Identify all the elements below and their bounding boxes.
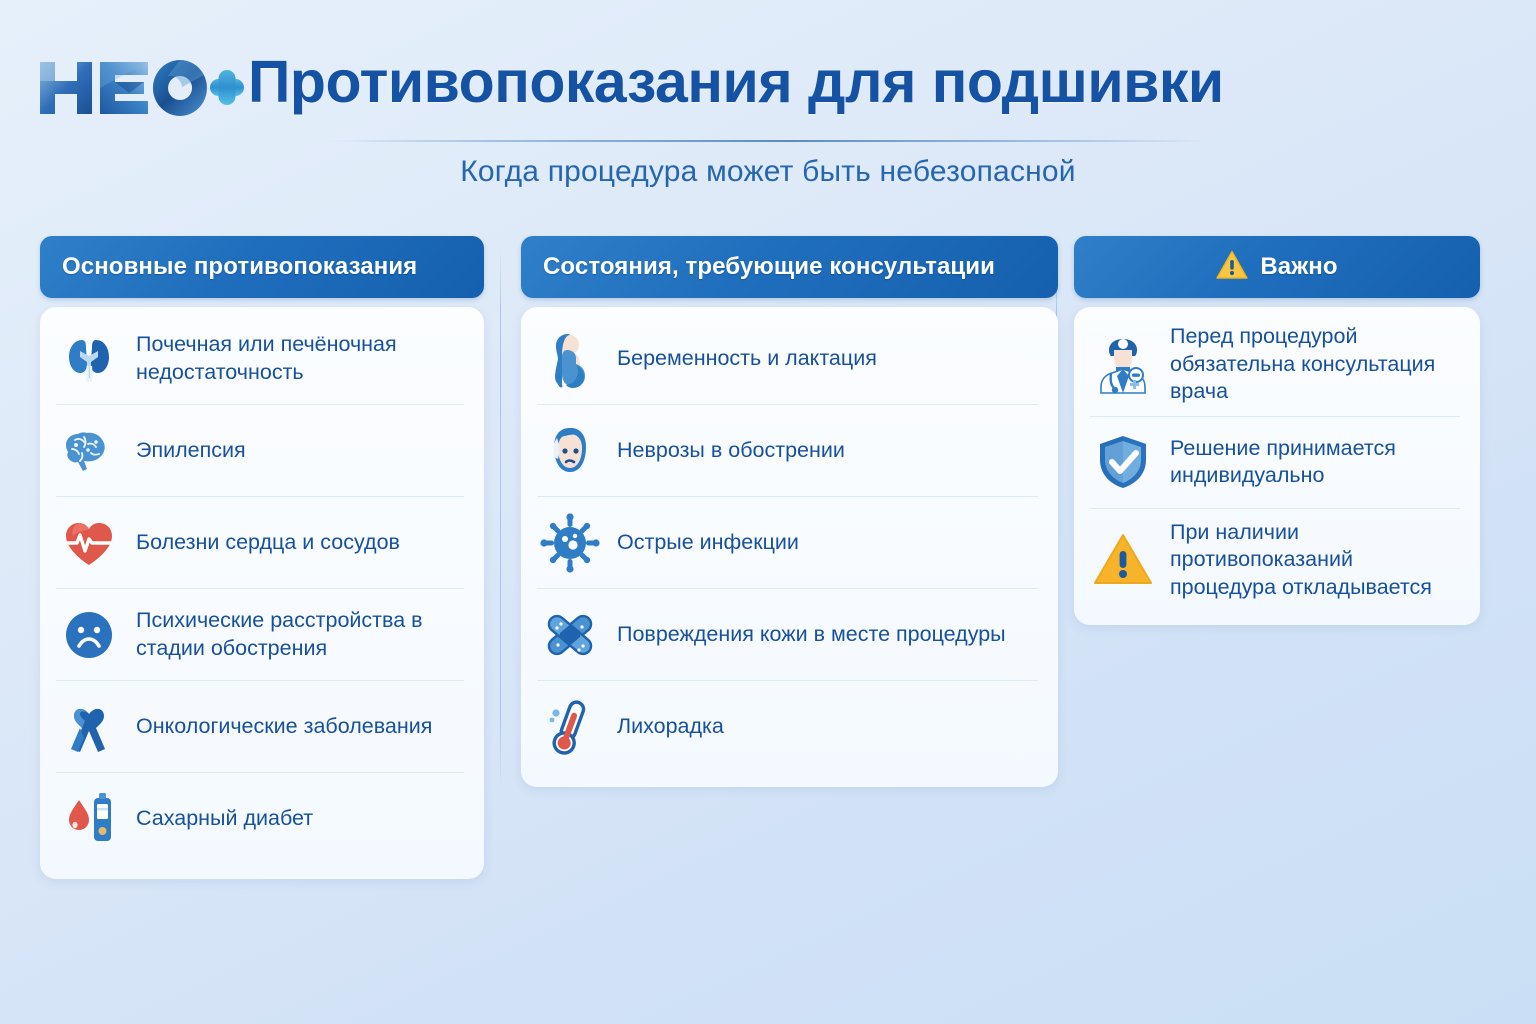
sad-face-icon [56,602,122,668]
list-item-label: Перед процедурой обязательна консультаци… [1170,323,1460,406]
list-item[interactable]: Болезни сердца и сосудов [56,497,464,589]
list-item-label: Повреждения кожи в месте процедуры [617,621,1006,649]
list-item-label: Эпилепсия [136,437,246,465]
column-header-main-contraindications: Основные противопоказания [40,236,484,298]
list-item[interactable]: Перед процедурой обязательна консультаци… [1090,313,1460,417]
heart-pulse-icon [56,510,122,576]
column-body-important: Перед процедурой обязательна консультаци… [1074,307,1480,625]
column-header-label: Основные противопоказания [62,253,417,281]
list-item[interactable]: Неврозы в обострении [537,405,1038,497]
column-important: Важно [1074,236,1480,625]
list-item[interactable]: Острые инфекции [537,497,1038,589]
list-item[interactable]: Сахарный диабет [56,773,464,865]
thermometer-icon [537,694,603,760]
virus-icon [537,510,603,576]
page-title: Противопоказания для подшивки [248,48,1224,116]
list-item-label: Болезни сердца и сосудов [136,529,400,557]
neo-plus-logo [34,52,246,124]
brain-icon [56,418,122,484]
list-item[interactable]: Лихорадка [537,681,1038,773]
list-item-label: При наличии противопоказаний процедура о… [1170,519,1460,602]
list-item-label: Психические расстройства в стадии обостр… [136,607,464,662]
column-header-label: Важно [1260,253,1337,281]
page-subtitle: Когда процедура может быть небезопасной [0,155,1536,189]
list-item-label: Почечная или печёночная недостаточность [136,331,464,386]
list-item[interactable]: Онкологические заболевания [56,681,464,773]
column-main-contraindications: Основные противопоказания Почечная или п… [40,236,484,879]
pregnant-woman-icon [537,326,603,392]
column-header-label: Состояния, требующие консультации [543,253,995,281]
column-divider-1 [500,246,501,786]
list-item[interactable]: Беременность и лактация [537,313,1038,405]
glucometer-icon [56,786,122,852]
list-item-label: Острые инфекции [617,529,799,557]
awareness-ribbon-icon [56,694,122,760]
list-item-label: Онкологические заболевания [136,713,432,741]
list-item-label: Решение принимается индивидуально [1170,435,1460,490]
stressed-woman-icon [537,418,603,484]
column-body-conditions: Беременность и лактация Неврозы в обостр… [521,307,1058,787]
column-header-important: Важно [1074,236,1480,298]
list-item-label: Лихорадка [617,713,724,741]
list-item[interactable]: При наличии противопоказаний процедура о… [1090,509,1460,612]
list-item[interactable]: Психические расстройства в стадии обостр… [56,589,464,681]
contraindications-board: Основные противопоказания Почечная или п… [0,236,1536,916]
column-body-main-contraindications: Почечная или печёночная недостаточность … [40,307,484,879]
warning-triangle-icon [1090,527,1156,593]
page-header: Противопоказания для подшивки Когда проц… [0,0,1536,205]
doctor-icon [1090,331,1156,397]
title-divider [330,140,1210,142]
list-item[interactable]: Почечная или печёночная недостаточность [56,313,464,405]
list-item[interactable]: Повреждения кожи в месте процедуры [537,589,1038,681]
list-item-label: Неврозы в обострении [617,437,845,465]
warning-triangle-icon [1216,250,1248,285]
column-header-conditions: Состояния, требующие консультации [521,236,1058,298]
list-item-label: Беременность и лактация [617,345,877,373]
column-conditions-requiring-consultation: Состояния, требующие консультации Береме… [521,236,1058,787]
shield-check-icon [1090,429,1156,495]
bandages-icon [537,602,603,668]
list-item-label: Сахарный диабет [136,805,313,833]
list-item[interactable]: Решение принимается индивидуально [1090,417,1460,509]
list-item[interactable]: Эпилепсия [56,405,464,497]
kidneys-icon [56,326,122,392]
